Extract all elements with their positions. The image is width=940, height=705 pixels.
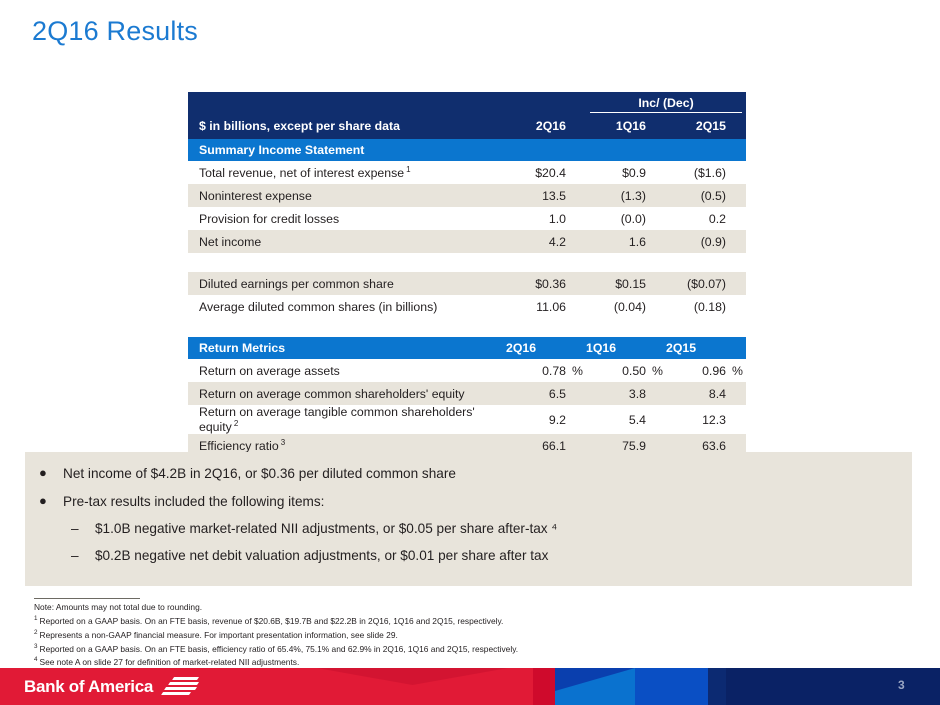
bullet-text: Net income of $4.2B in 2Q16, or $0.36 pe…: [63, 466, 456, 482]
bullet-text: $1.0B negative market-related NII adjust…: [95, 521, 557, 537]
footnote-note: Note: Amounts may not total due to round…: [34, 601, 734, 614]
header-col-2q15: 2Q15: [666, 113, 728, 139]
row-label: Total revenue, net of interest expense1: [188, 161, 506, 184]
row-value-2q15: 0.2: [666, 207, 728, 230]
row-value-1q16: $0.15: [586, 272, 648, 295]
footnote-divider: [34, 598, 140, 599]
row-value-2q16: $0.36: [506, 272, 568, 295]
table-row: Diluted earnings per common share $0.36 …: [188, 272, 746, 295]
row-value-2q15: ($1.6): [666, 161, 728, 184]
banner-crimson-strip: [533, 668, 555, 705]
row-value-1q16: (0.04): [586, 295, 648, 318]
row-unit-2q15: %: [728, 359, 746, 382]
highlights-panel: ● Net income of $4.2B in 2Q16, or $0.36 …: [25, 452, 912, 586]
banner-blue-panel-1: [555, 668, 635, 705]
row-value-2q15: ($0.07): [666, 272, 728, 295]
bullet-dash-icon: –: [71, 521, 95, 536]
flagscape-icon: [162, 676, 200, 698]
row-value-2q15: 0.96: [666, 359, 728, 382]
footnote-3: 3Reported on a GAAP basis. On an FTE bas…: [34, 642, 734, 656]
table-row: Total revenue, net of interest expense1 …: [188, 161, 746, 184]
sub-bullet-item: – $1.0B negative market-related NII adju…: [25, 509, 912, 537]
row-value-2q15: (0.5): [666, 184, 728, 207]
sub-bullet-item: – $0.2B negative net debit valuation adj…: [25, 537, 912, 564]
financial-table: Inc/ (Dec) $ in billions, except per sha…: [188, 92, 746, 460]
table-row: Return on average common shareholders' e…: [188, 382, 746, 405]
row-label: Diluted earnings per common share: [188, 272, 506, 295]
row-value-2q15: 8.4: [666, 382, 728, 405]
section-header-return-metrics: Return Metrics 2Q16 1Q16 2Q15: [188, 337, 746, 359]
row-label: Return on average common shareholders' e…: [188, 382, 506, 405]
table-header-row: $ in billions, except per share data 2Q1…: [188, 113, 746, 139]
bullet-dot-icon: ●: [39, 466, 63, 481]
group-header-inc-dec: Inc/ (Dec): [590, 96, 742, 113]
row-unit-2q16: %: [568, 359, 586, 382]
banner-navy-edge: [708, 668, 726, 705]
header-col-2q16: 2Q16: [506, 337, 568, 359]
footnote-marker: 3: [279, 438, 285, 447]
row-value-2q15: (0.18): [666, 295, 728, 318]
row-value-1q16: (1.3): [586, 184, 648, 207]
row-label: Provision for credit losses: [188, 207, 506, 230]
section-header-summary-income-statement: Summary Income Statement: [188, 139, 746, 161]
row-unit-1q16: %: [648, 359, 666, 382]
row-value-2q16: 6.5: [506, 382, 568, 405]
header-col-1q16: 1Q16: [586, 337, 648, 359]
table-row: Noninterest expense 13.5 (1.3) (0.5): [188, 184, 746, 207]
row-value-2q16: $20.4: [506, 161, 568, 184]
row-value-1q16: 0.50: [586, 359, 648, 382]
footnote-marker: 2: [232, 419, 238, 428]
footnote-1: 1Reported on a GAAP basis. On an FTE bas…: [34, 614, 734, 628]
row-value-1q16: 3.8: [586, 382, 648, 405]
footnote-marker: 1: [404, 165, 410, 174]
row-value-1q16: 1.6: [586, 230, 648, 253]
table-row: Provision for credit losses 1.0 (0.0) 0.…: [188, 207, 746, 230]
row-value-2q16: 11.06: [506, 295, 568, 318]
row-label: Return on average assets: [188, 359, 506, 382]
banner-chevron-shape: [292, 668, 533, 705]
row-label: Noninterest expense: [188, 184, 506, 207]
banner-navy-panel: [708, 668, 940, 705]
row-value-1q16: (0.0): [586, 207, 648, 230]
footnote-2: 2Represents a non-GAAP financial measure…: [34, 628, 734, 642]
page-number: 3: [898, 678, 905, 692]
header-label: $ in billions, except per share data: [188, 113, 506, 139]
row-value-2q15: 12.3: [666, 405, 728, 434]
table-spacer: [188, 253, 746, 272]
footnotes: Note: Amounts may not total due to round…: [34, 601, 734, 669]
row-value-2q15: (0.9): [666, 230, 728, 253]
bullet-item: ● Pre-tax results included the following…: [25, 482, 912, 510]
page-title: 2Q16 Results: [32, 16, 198, 47]
bank-of-america-logo: Bank of America: [24, 676, 200, 698]
row-value-2q16: 0.78: [506, 359, 568, 382]
header-col-1q16: 1Q16: [586, 113, 648, 139]
row-value-2q16: 4.2: [506, 230, 568, 253]
bullet-text: Pre-tax results included the following i…: [63, 494, 324, 510]
table-row: Average diluted common shares (in billio…: [188, 295, 746, 318]
table-row: Return on average assets 0.78 % 0.50 % 0…: [188, 359, 746, 382]
table-row: Net income 4.2 1.6 (0.9): [188, 230, 746, 253]
row-label: Return on average tangible common shareh…: [188, 405, 506, 434]
section-title: Summary Income Statement: [188, 139, 506, 161]
slide-root: 2Q16 Results Inc/ (Dec) $ in billions, e…: [0, 0, 940, 705]
row-value-1q16: $0.9: [586, 161, 648, 184]
table-group-header-row: Inc/ (Dec): [188, 92, 746, 113]
banner-blue-panel-2: [635, 668, 708, 705]
row-value-2q16: 13.5: [506, 184, 568, 207]
table-row: Return on average tangible common shareh…: [188, 405, 746, 434]
bullet-dash-icon: –: [71, 548, 95, 563]
bullet-item: ● Net income of $4.2B in 2Q16, or $0.36 …: [25, 452, 912, 482]
header-col-2q15: 2Q15: [666, 337, 728, 359]
row-value-1q16: 5.4: [586, 405, 648, 434]
row-label: Average diluted common shares (in billio…: [188, 295, 506, 318]
logo-wordmark: Bank of America: [24, 677, 153, 697]
row-label: Net income: [188, 230, 506, 253]
bullet-text: $0.2B negative net debit valuation adjus…: [95, 548, 548, 564]
header-col-2q16: 2Q16: [506, 113, 568, 139]
table-spacer: [188, 318, 746, 337]
row-value-2q16: 9.2: [506, 405, 568, 434]
bullet-dot-icon: ●: [39, 494, 63, 509]
row-value-2q16: 1.0: [506, 207, 568, 230]
section-title: Return Metrics: [188, 337, 506, 359]
